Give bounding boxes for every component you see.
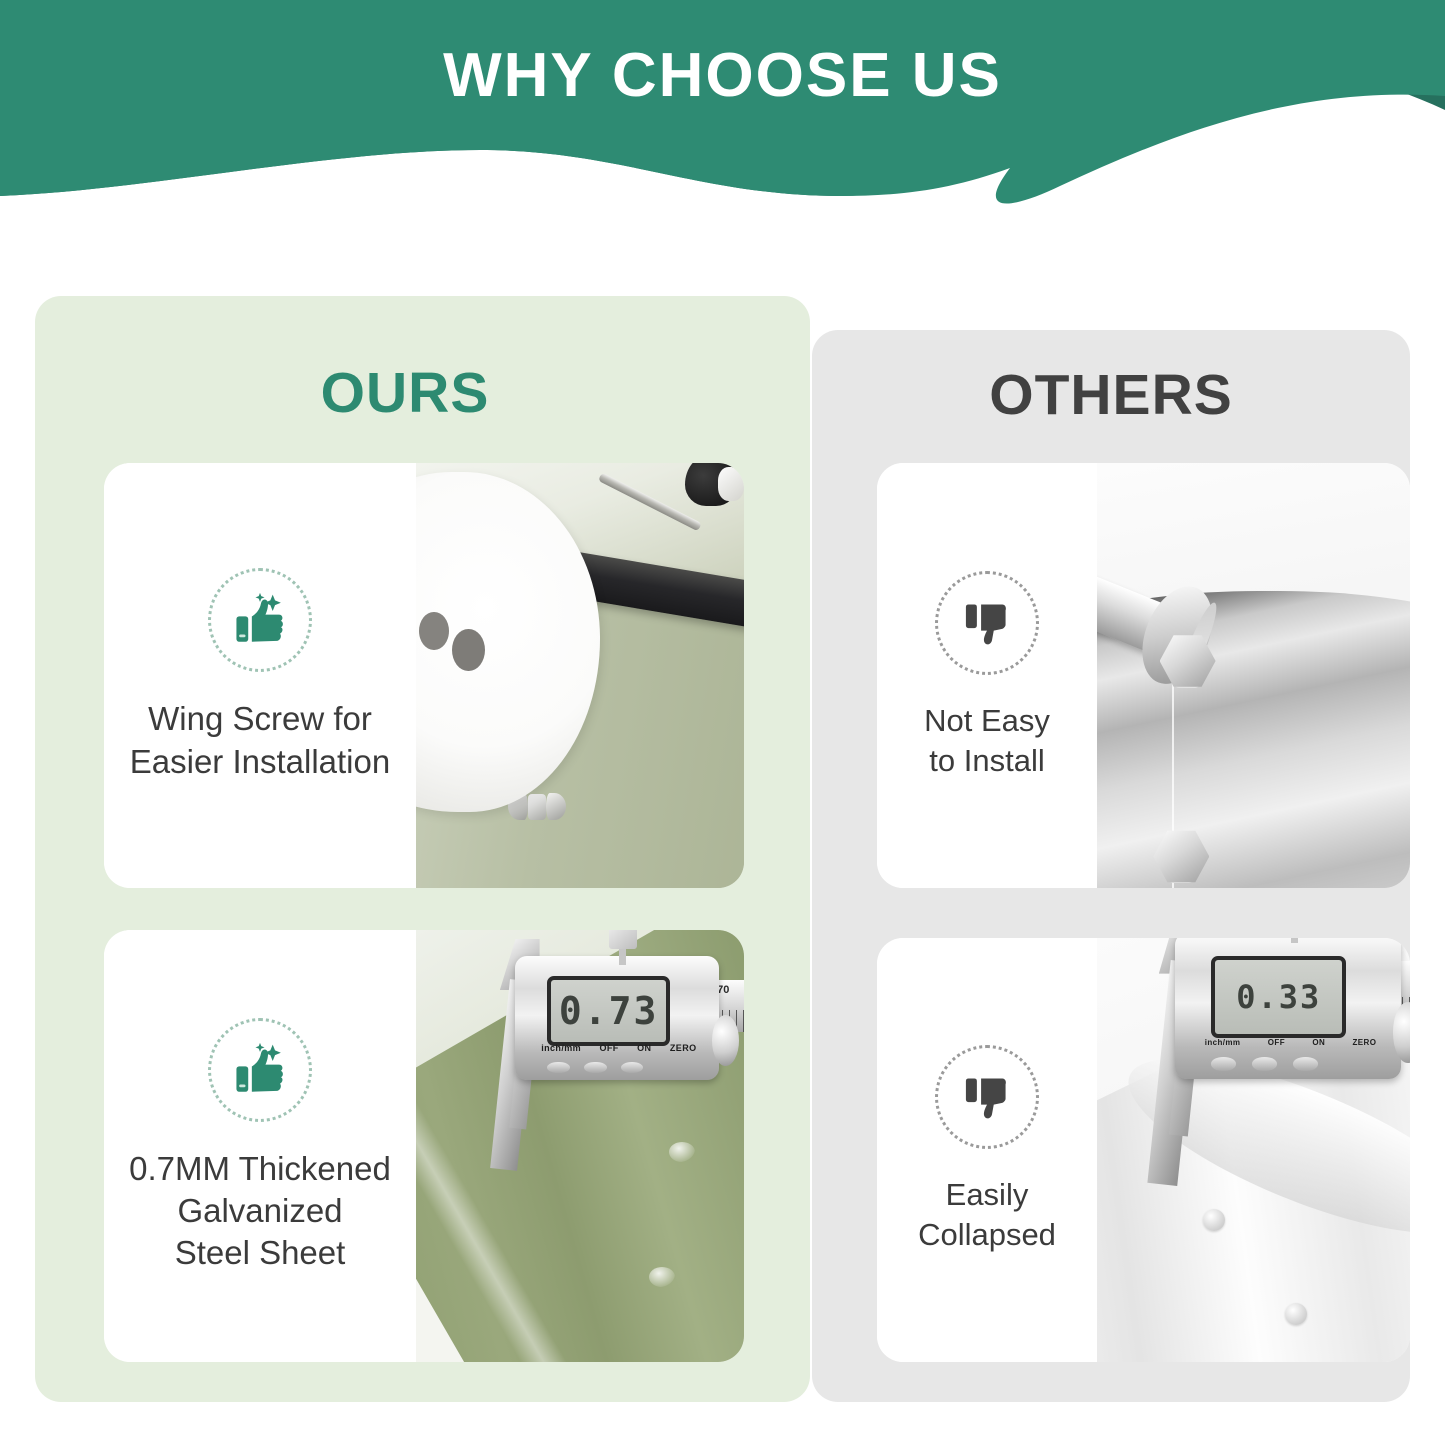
caliper-unit-label: inch/mm xyxy=(1205,1038,1241,1047)
wrench-hex-bolt-photo xyxy=(1097,463,1410,888)
caliper-button-on[interactable]: ON xyxy=(1312,1038,1325,1047)
others-drawback-card-collapse: Easily Collapsed 0.33 inch/mm OFF xyxy=(877,938,1410,1362)
caliper-measuring-green-steel-photo: 70 0.73 inch/mm OFF ON ZERO xyxy=(416,930,744,1362)
wing-screw-installation-photo xyxy=(416,463,744,888)
caliper-reading-display: 0.73 xyxy=(559,989,659,1033)
caliper-button-off[interactable]: OFF xyxy=(1268,1038,1285,1047)
ours-feature-card-wing-screw: Wing Screw for Easier Installation xyxy=(104,463,744,888)
card-text-zone: 0.7MM Thickened Galvanized Steel Sheet xyxy=(104,930,416,1362)
thumbs-down-icon xyxy=(935,1045,1039,1149)
thumbs-up-sparkle-icon xyxy=(208,568,312,672)
caliper-button-on[interactable]: ON xyxy=(637,1043,651,1053)
caliper-unit-label: inch/mm xyxy=(541,1043,581,1053)
ours-column-heading: OURS xyxy=(0,360,810,426)
caliper-button-zero[interactable]: ZERO xyxy=(670,1043,697,1053)
card-text-zone: Not Easy to Install xyxy=(877,463,1097,888)
card-label: Not Easy to Install xyxy=(924,701,1050,780)
thumbs-down-icon xyxy=(935,571,1039,675)
card-text-zone: Easily Collapsed xyxy=(877,938,1097,1362)
card-text-zone: Wing Screw for Easier Installation xyxy=(104,463,416,888)
ours-feature-card-thickness: 0.7MM Thickened Galvanized Steel Sheet 7… xyxy=(104,930,744,1362)
caliper-button-zero[interactable]: ZERO xyxy=(1353,1038,1377,1047)
caliper-reading-display: 0.33 xyxy=(1236,978,1321,1016)
others-drawback-card-install: Not Easy to Install xyxy=(877,463,1410,888)
card-label: 0.7MM Thickened Galvanized Steel Sheet xyxy=(129,1148,391,1275)
page-title: WHY CHOOSE US xyxy=(0,40,1445,111)
thumbs-up-sparkle-icon xyxy=(208,1018,312,1122)
others-column-heading: OTHERS xyxy=(812,362,1410,428)
card-label: Wing Screw for Easier Installation xyxy=(130,698,390,782)
page-header: WHY CHOOSE US xyxy=(0,0,1445,215)
card-label: Easily Collapsed xyxy=(918,1175,1056,1254)
caliper-button-off[interactable]: OFF xyxy=(599,1043,618,1053)
caliper-measuring-white-thin-sheet-photo: 0.33 inch/mm OFF ON ZERO xyxy=(1097,938,1410,1362)
